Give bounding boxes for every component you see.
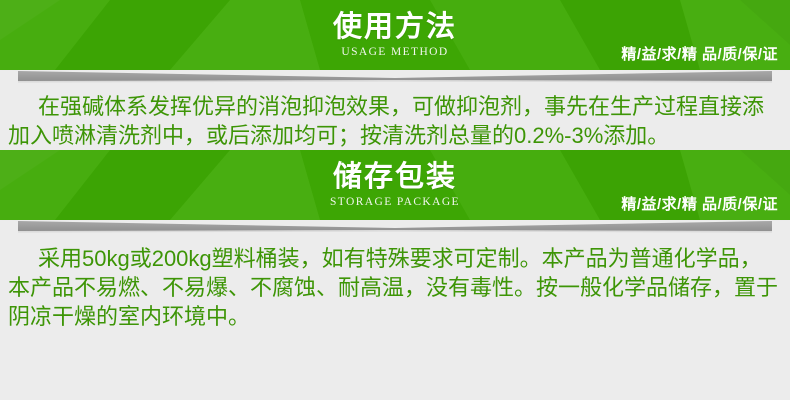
- ribbon-divider-usage-method: [0, 70, 790, 84]
- section-body-usage-method: 在强碱体系发挥优异的消泡抑泡效果，可做抑泡剂，事先在生产过程直接添加入喷淋清洗剂…: [0, 84, 790, 150]
- section-title: 储存包装: [333, 162, 457, 192]
- section-header-usage-method: 使用方法 USAGE METHOD 精/益/求/精 品/质/保/证: [0, 0, 790, 70]
- section-subtitle: USAGE METHOD: [341, 46, 448, 58]
- section-slogan: 精/益/求/精 品/质/保/证: [621, 43, 778, 64]
- section-body-storage-package: 采用50kg或200kg塑料桶装，如有特殊要求可定制。本产品为普通化学品，本产品…: [0, 234, 790, 331]
- section-slogan: 精/益/求/精 品/质/保/证: [621, 193, 778, 214]
- product-detail-page: 使用方法 USAGE METHOD 精/益/求/精 品/质/保/证 在强碱体系发: [0, 0, 790, 400]
- section-subtitle: STORAGE PACKAGE: [330, 196, 460, 208]
- section-header-storage-package: 储存包装 STORAGE PACKAGE 精/益/求/精 品/质/保/证: [0, 150, 790, 220]
- section-title: 使用方法: [333, 12, 457, 42]
- ribbon-divider-storage-package: [0, 220, 790, 234]
